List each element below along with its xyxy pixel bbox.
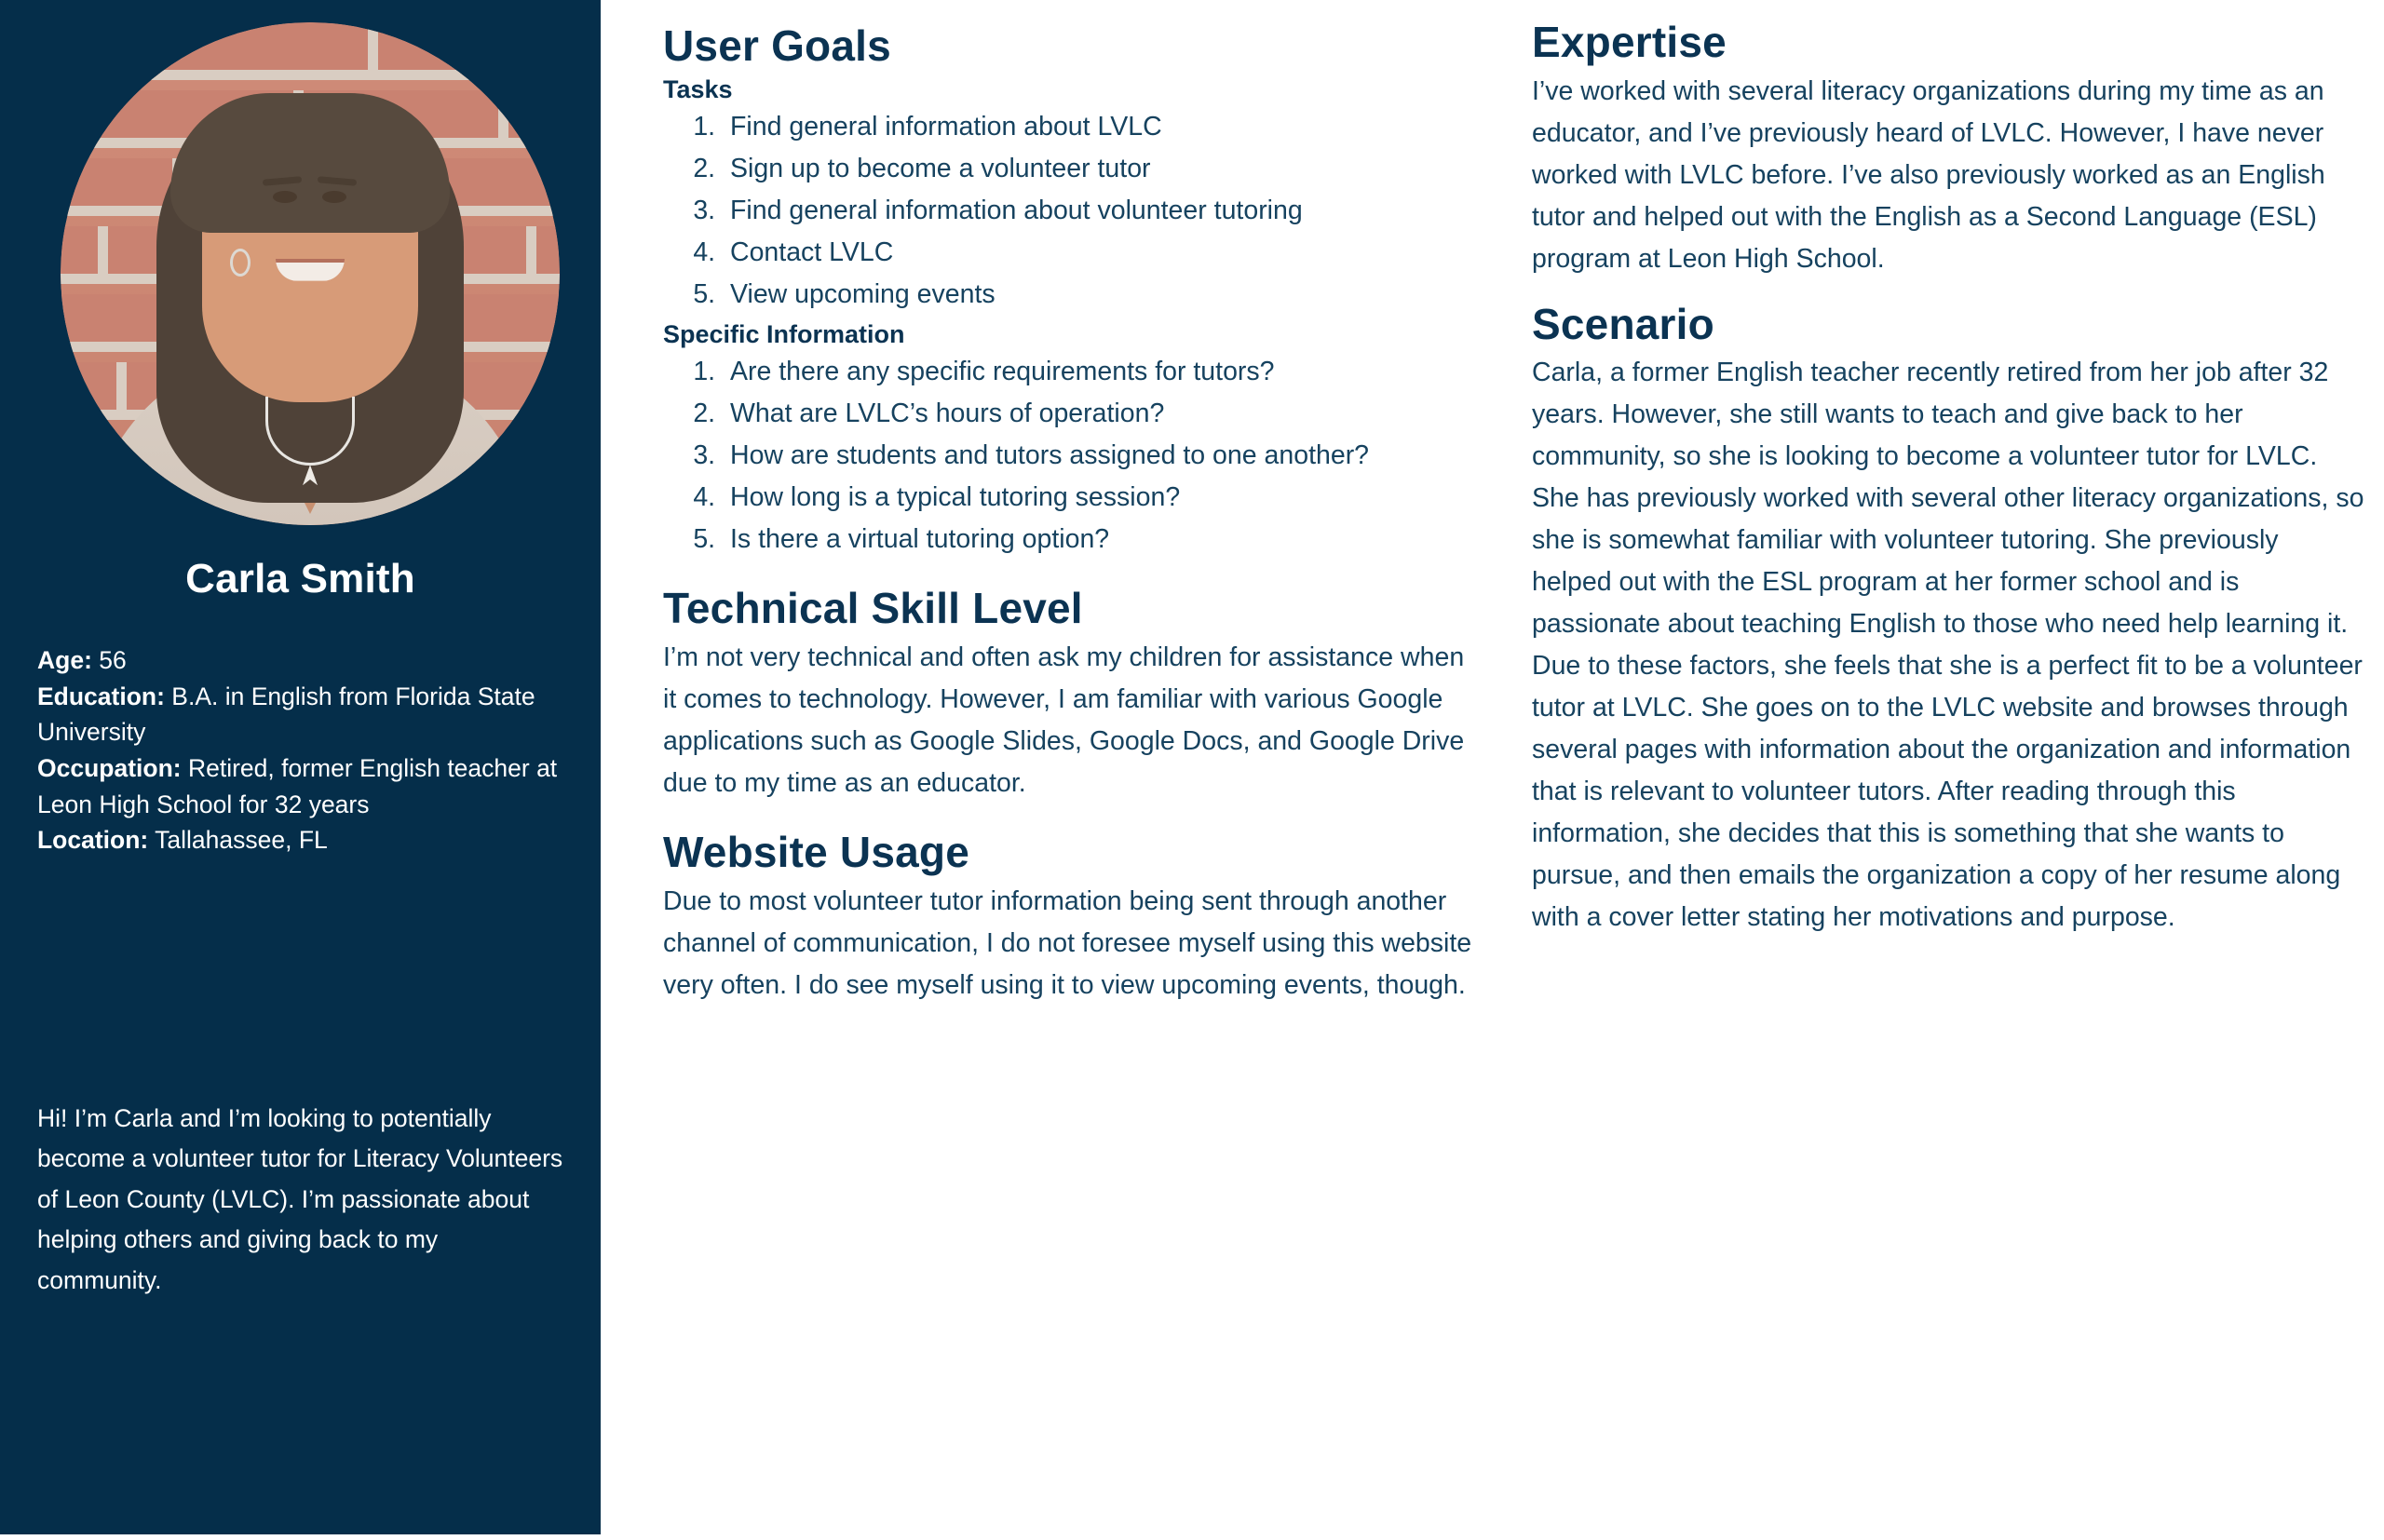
persona-sheet: Carla Smith Age: 56 Education: B.A. in E…: [0, 0, 2384, 1540]
user-goals-title: User Goals: [663, 22, 1483, 71]
fact-age-value: 56: [99, 646, 126, 674]
expertise-title: Expertise: [1532, 19, 2365, 67]
persona-intro-blurb: Hi! I’m Carla and I’m looking to potenti…: [37, 1099, 566, 1301]
list-item: View upcoming events: [723, 274, 1483, 316]
section-technical-skill-level: Technical Skill Level I’m not very techn…: [663, 585, 1483, 804]
technical-skill-level-title: Technical Skill Level: [663, 585, 1483, 633]
persona-sidebar: Carla Smith Age: 56 Education: B.A. in E…: [0, 0, 601, 1534]
fact-location-value: Tallahassee, FL: [155, 826, 328, 854]
website-usage-title: Website Usage: [663, 829, 1483, 877]
specific-information-subtitle: Specific Information: [663, 319, 1483, 349]
fact-location: Location: Tallahassee, FL: [37, 822, 568, 858]
list-item: Find general information about volunteer…: [723, 190, 1483, 232]
tasks-list: Find general information about LVLC Sign…: [663, 106, 1483, 316]
portrait-photo-icon: [61, 22, 560, 525]
section-scenario: Scenario Carla, a former English teacher…: [1532, 301, 2365, 939]
list-item: Sign up to become a volunteer tutor: [723, 148, 1483, 190]
section-website-usage: Website Usage Due to most volunteer tuto…: [663, 829, 1483, 1006]
list-item: Are there any specific requirements for …: [723, 351, 1483, 393]
fact-education-label: Education:: [37, 682, 165, 710]
list-item: What are LVLC’s hours of operation?: [723, 393, 1483, 435]
right-column: Expertise I’ve worked with several liter…: [1532, 0, 2365, 948]
middle-column: User Goals Tasks Find general informatio…: [663, 0, 1483, 1016]
list-item: How long is a typical tutoring session?: [723, 477, 1483, 519]
website-usage-body: Due to most volunteer tutor information …: [663, 881, 1483, 1006]
fact-age-label: Age:: [37, 646, 92, 674]
avatar: [61, 22, 560, 525]
section-user-goals: User Goals Tasks Find general informatio…: [663, 22, 1483, 561]
persona-name: Carla Smith: [0, 556, 601, 602]
tasks-subtitle: Tasks: [663, 74, 1483, 104]
section-expertise: Expertise I’ve worked with several liter…: [1532, 19, 2365, 280]
expertise-body: I’ve worked with several literacy organi…: [1532, 71, 2365, 280]
list-item: Contact LVLC: [723, 232, 1483, 274]
fact-age: Age: 56: [37, 642, 568, 679]
fact-occupation-label: Occupation:: [37, 754, 182, 782]
fact-occupation: Occupation: Retired, former English teac…: [37, 750, 568, 822]
specific-information-list: Are there any specific requirements for …: [663, 351, 1483, 561]
scenario-title: Scenario: [1532, 301, 2365, 349]
list-item: Find general information about LVLC: [723, 106, 1483, 148]
persona-facts: Age: 56 Education: B.A. in English from …: [37, 642, 568, 858]
list-item: How are students and tutors assigned to …: [723, 435, 1483, 477]
technical-skill-level-body: I’m not very technical and often ask my …: [663, 637, 1483, 804]
list-item: Is there a virtual tutoring option?: [723, 519, 1483, 561]
scenario-body: Carla, a former English teacher recently…: [1532, 352, 2365, 939]
fact-location-label: Location:: [37, 826, 148, 854]
fact-education: Education: B.A. in English from Florida …: [37, 679, 568, 750]
